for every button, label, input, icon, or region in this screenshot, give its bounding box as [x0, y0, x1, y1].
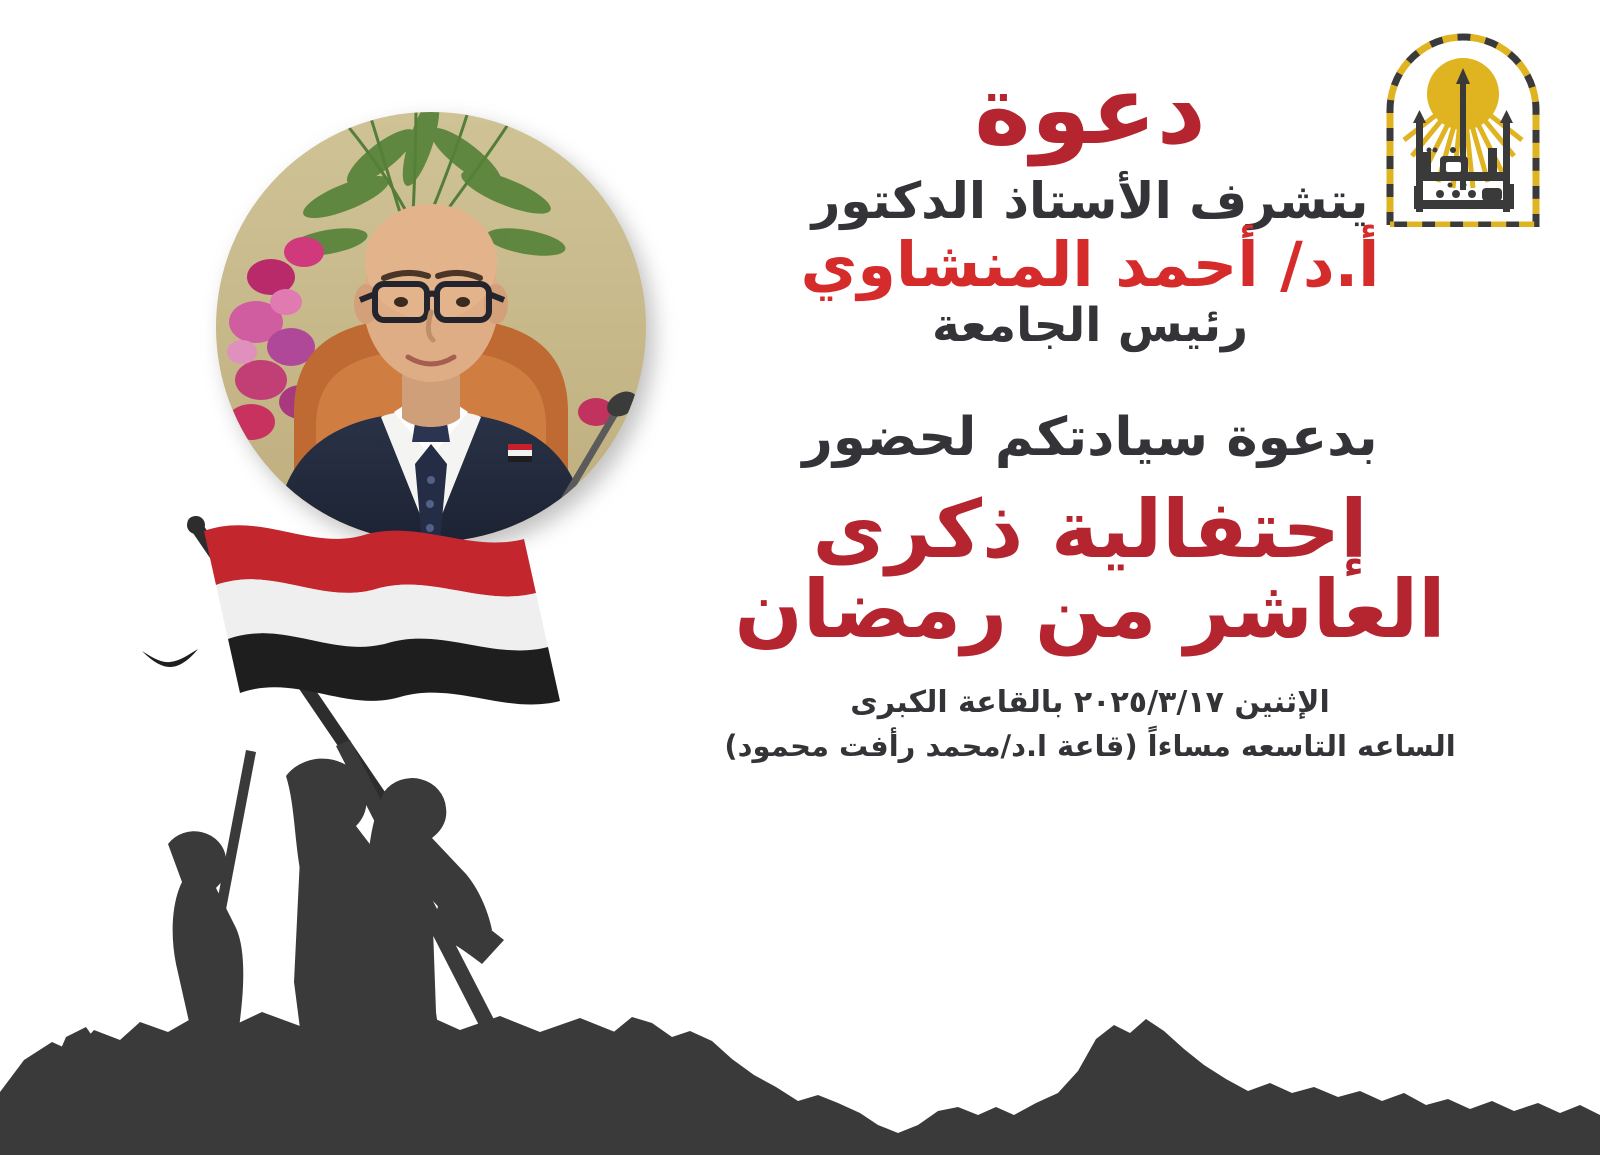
invitation-poster: دعوة يتشرف الأستاذ الدكتور أ.د/ أحمد الم…: [0, 0, 1600, 1155]
university-president-portrait: [216, 112, 646, 542]
page-title: دعوة: [710, 62, 1470, 158]
event-title-line1: إحتفالية ذكرى: [710, 490, 1470, 570]
avatar: [216, 112, 646, 542]
event-title: إحتفالية ذكرى العاشر من رمضان: [710, 490, 1470, 650]
invitation-text-block: دعوة يتشرف الأستاذ الدكتور أ.د/ أحمد الم…: [710, 62, 1470, 769]
event-date-venue: الإثنين ٢٠٢٥/٣/١٧ بالقاعة الكبرى: [710, 680, 1470, 725]
event-title-line2: العاشر من رمضان: [710, 570, 1470, 650]
honorific-line: يتشرف الأستاذ الدكتور: [710, 176, 1470, 226]
invitation-line: بدعوة سيادتكم لحضور: [710, 411, 1470, 464]
person-role: رئيس الجامعة: [710, 302, 1470, 349]
flying-bird-silhouette: [140, 645, 200, 680]
mountain-ridge-silhouette: [0, 975, 1600, 1155]
person-name: أ.د/ أحمد المنشاوي: [710, 234, 1470, 296]
event-time-hall: الساعه التاسعه مساءاً (قاعة ا.د/محمد رأف…: [710, 725, 1470, 769]
